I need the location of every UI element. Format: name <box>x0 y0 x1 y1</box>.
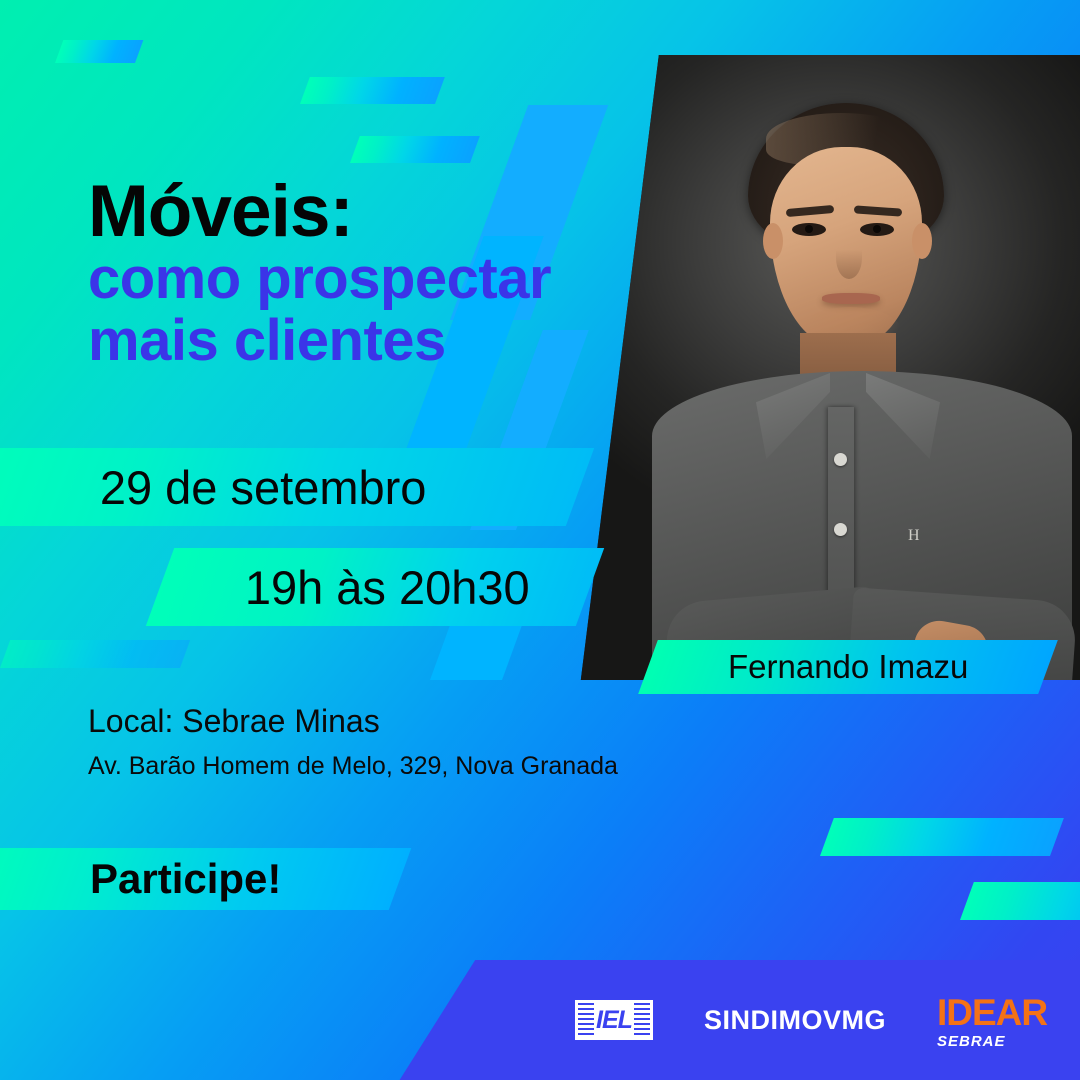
page-subtitle-line-2: mais clientes <box>88 310 551 372</box>
venue-address: Av. Barão Homem de Melo, 329, Nova Grana… <box>88 752 618 781</box>
sponsor-logos: IEL SINDIMOVMG IDEAR SEBRAE <box>575 960 1065 1080</box>
portrait-mouth <box>822 293 880 304</box>
event-time-band: 19h às 20h30 <box>146 548 604 626</box>
speaker-name-band: Fernando Imazu <box>638 640 1058 694</box>
event-time-text: 19h às 20h30 <box>245 560 530 615</box>
decor-stripe <box>0 640 190 668</box>
page-subtitle: como prospectar mais clientes <box>88 248 551 372</box>
portrait-shirt-button <box>834 523 847 536</box>
event-date-band: 29 de setembro <box>0 448 594 526</box>
portrait-shirt-button <box>834 453 847 466</box>
event-date-text: 29 de setembro <box>100 460 427 515</box>
decor-stripe <box>300 77 445 104</box>
sindimovmg-logo: SINDIMOVMG <box>704 1005 886 1036</box>
page-subtitle-line-1: como prospectar <box>88 248 551 310</box>
event-poster: H Móveis: como prospectar mais clientes … <box>0 0 1080 1080</box>
iel-logo: IEL <box>575 1000 653 1040</box>
cta-band: Participe! <box>0 848 411 910</box>
decor-stripe <box>820 818 1064 856</box>
venue-name: Local: Sebrae Minas <box>88 703 380 740</box>
sebrae-logo-text: SEBRAE <box>937 1033 1065 1050</box>
page-title: Móveis: <box>88 175 353 248</box>
decor-stripe <box>960 882 1080 920</box>
decor-stripe <box>55 40 143 63</box>
portrait-nose <box>836 237 862 279</box>
portrait-eye-left <box>792 223 826 236</box>
portrait-eye-right <box>860 223 894 236</box>
iel-logo-text: IEL <box>596 1006 632 1035</box>
speaker-portrait-image: H <box>560 55 1080 680</box>
idear-sebrae-logo: IDEAR SEBRAE <box>937 994 1065 1046</box>
portrait-shirt-emblem: H <box>908 527 920 545</box>
cta-text: Participe! <box>90 855 281 903</box>
decor-stripe <box>350 136 480 163</box>
idear-logo-text: IDEAR <box>937 994 1065 1031</box>
portrait-ear-right <box>912 223 932 259</box>
speaker-name-text: Fernando Imazu <box>728 648 968 686</box>
speaker-photo: H <box>560 55 1080 680</box>
portrait-ear-left <box>763 223 783 259</box>
